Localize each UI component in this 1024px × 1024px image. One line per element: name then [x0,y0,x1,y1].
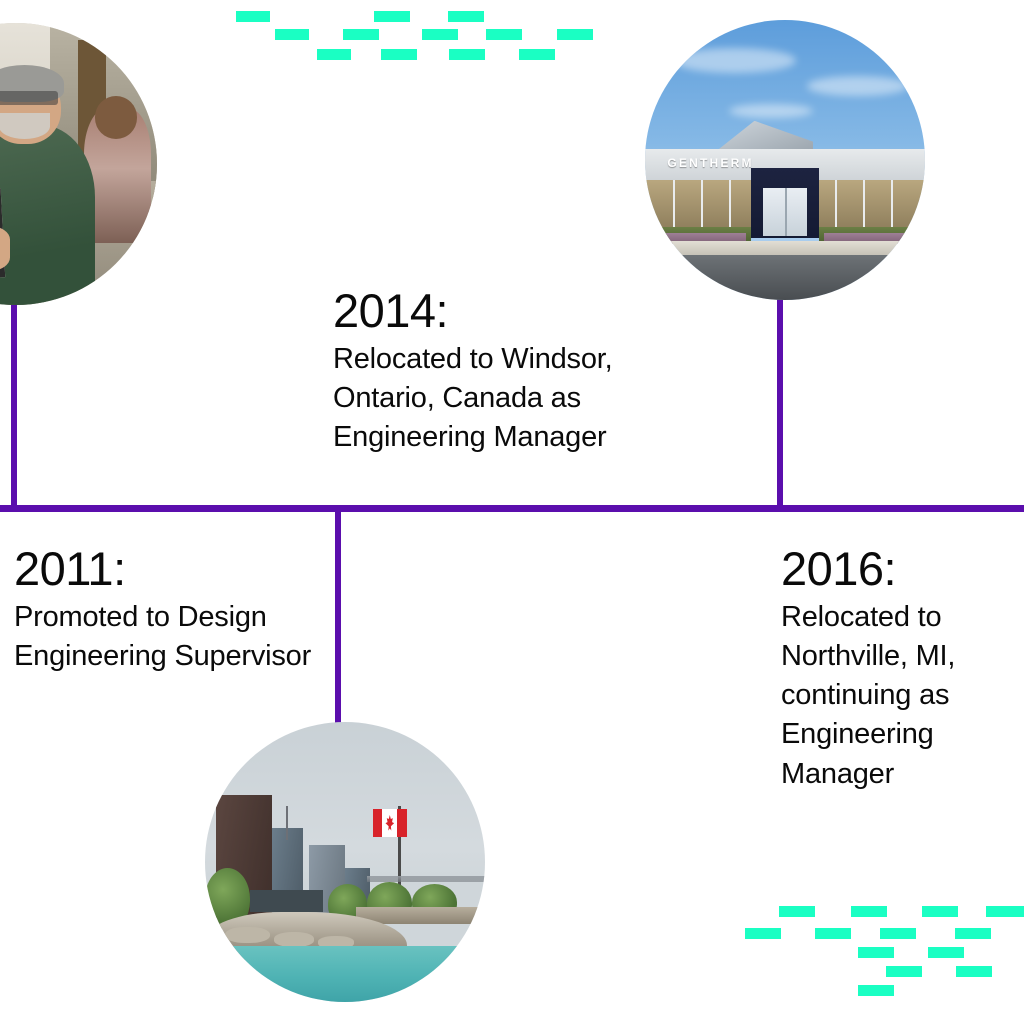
timeline-right-riser-connector [777,295,783,510]
photo-award-certificate [0,23,157,305]
background-person-head [95,96,137,138]
milestone-2011: 2011: Promoted to Design Engineering Sup… [14,545,314,676]
milestone-2016: 2016: Relocated to Northville, MI, conti… [781,545,1019,794]
milestone-2014-year: 2014: [333,287,713,334]
award-scene [0,23,157,305]
gentherm-sign-text: GENTHERM [667,156,753,170]
building-sidewalk [645,241,925,255]
milestone-2014: 2014: Relocated to Windsor, Ontario, Can… [333,287,713,457]
milestone-2011-year: 2011: [14,545,314,592]
timeline-canvas: GENTHERM [0,0,1024,1024]
detroit-river-water [205,946,485,1002]
ambassador-bridge [367,876,485,882]
milestone-2016-year: 2016: [781,545,1019,592]
timeline-left-riser-connector [11,300,17,508]
honoree-beard [0,113,50,138]
milestone-2016-description: Relocated to Northville, MI, continuing … [781,598,1019,794]
windsor-scene [205,722,485,1002]
gentherm-scene: GENTHERM [645,20,925,300]
timeline-horizontal-connector [0,505,1024,512]
milestone-2014-description: Relocated to Windsor, Ontario, Canada as… [333,340,713,457]
photo-gentherm-headquarters: GENTHERM [645,20,925,300]
door-divider [785,188,787,236]
timeline-center-drop-connector [335,508,341,733]
photo-windsor-waterfront [205,722,485,1002]
honoree-body [0,125,95,305]
honoree-glasses [0,91,58,105]
maple-leaf-icon [385,815,394,831]
canadian-flag [373,809,407,837]
milestone-2011-description: Promoted to Design Engineering Superviso… [14,598,314,676]
